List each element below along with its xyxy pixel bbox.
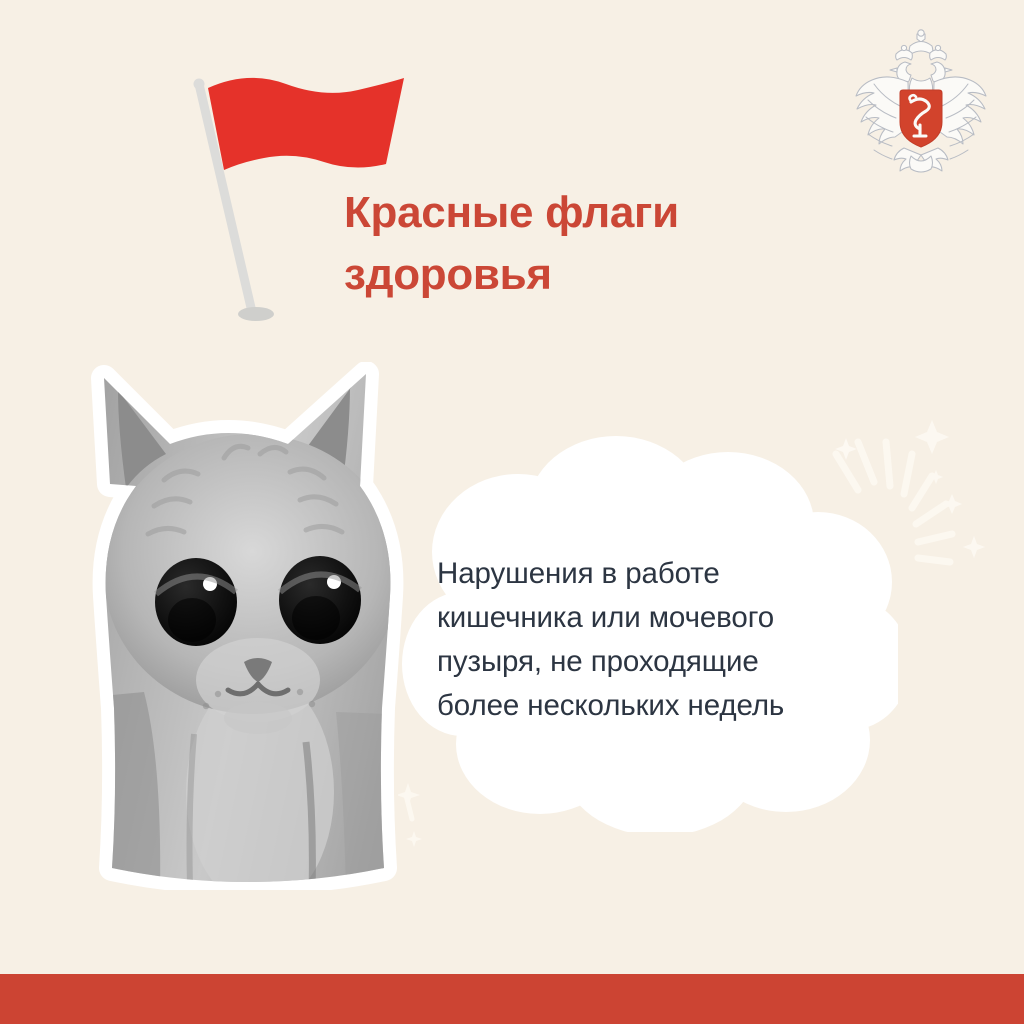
message-line-4: более нескольких недель xyxy=(437,684,867,728)
health-red-flags-card: Красные флаги здоровья xyxy=(0,0,1024,1024)
message-line-3: пузыря, не проходящие xyxy=(437,640,867,684)
ministry-of-health-emblem xyxy=(848,22,994,174)
title-line-2: здоровья xyxy=(344,244,814,306)
message-line-1: Нарушения в работе xyxy=(437,552,867,596)
message-line-2: кишечника или мочевого xyxy=(437,596,867,640)
bottom-accent-bar xyxy=(0,974,1024,1024)
title-line-1: Красные флаги xyxy=(344,182,814,244)
grey-kitten-sticker xyxy=(74,362,442,890)
page-title: Красные флаги здоровья xyxy=(344,182,814,307)
message-text: Нарушения в работе кишечника или мочевог… xyxy=(437,552,867,728)
